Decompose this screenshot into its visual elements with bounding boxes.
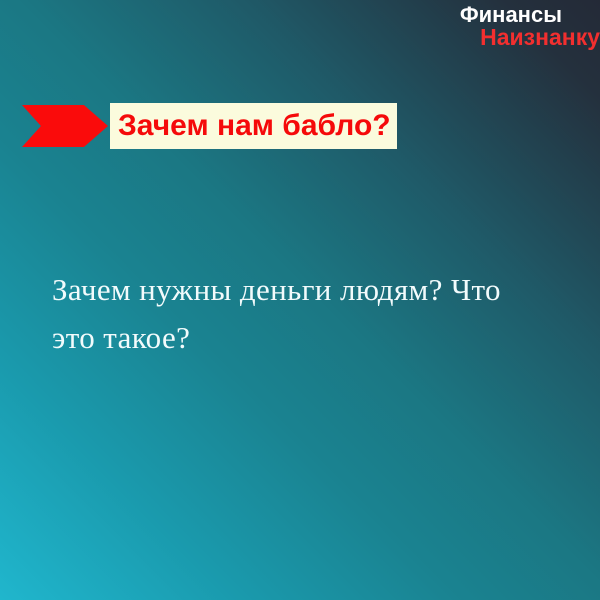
- title-banner: Зачем нам бабло?: [0, 103, 600, 149]
- brand-logo: Финансы Наизнанку: [300, 4, 600, 50]
- body-text-line-2: это такое?: [52, 314, 600, 362]
- brand-logo-line-2: Наизнанку: [300, 26, 600, 49]
- body-text-line-1: Зачем нужны деньги людям? Что: [52, 266, 600, 314]
- body-text-block: Зачем нужны деньги людям? Что это такое?: [52, 266, 600, 362]
- right-arrow-chevron-icon: [22, 105, 108, 147]
- brand-logo-line-1: Финансы: [300, 4, 600, 26]
- title-highlight-band: Зачем нам бабло?: [110, 103, 397, 149]
- slide-canvas: Финансы Наизнанку Зачем нам бабло? Зачем…: [0, 0, 600, 600]
- page-title: Зачем нам бабло?: [118, 111, 391, 141]
